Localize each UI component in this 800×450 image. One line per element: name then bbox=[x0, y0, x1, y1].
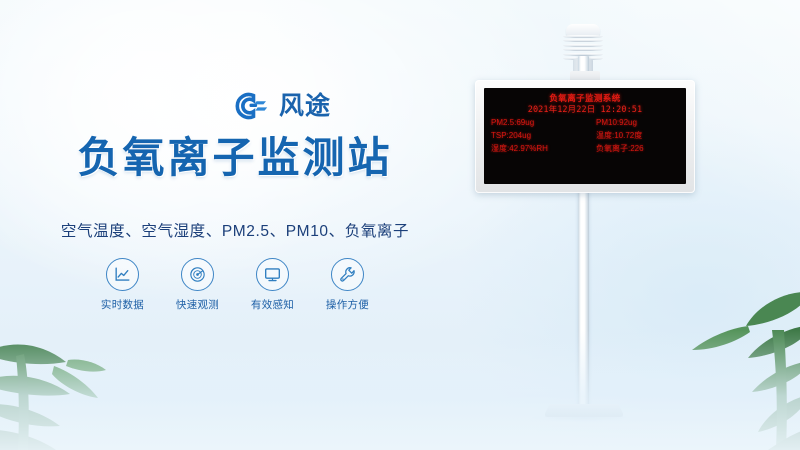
led-screen-title: 负氧离子监测系统 bbox=[491, 93, 679, 104]
reading-humidity: 湿度:42.97%RH bbox=[491, 143, 583, 155]
brand-name: 风途 bbox=[279, 94, 331, 119]
feature-item-easy-operation: 操作方便 bbox=[322, 258, 374, 312]
radar-scan-icon bbox=[181, 258, 214, 291]
feature-label: 实时数据 bbox=[97, 297, 149, 312]
led-screen: 负氧离子监测系统 2021年12月22日 12:20:51 PM2.5:69ug… bbox=[484, 88, 686, 184]
wrench-icon bbox=[331, 258, 364, 291]
page-title: 负氧离子监测站 bbox=[0, 134, 470, 181]
reading-tsp: TSP:204ug bbox=[491, 130, 583, 142]
reading-pm10: PM10:92ug bbox=[587, 117, 679, 129]
marketing-panel: 风途 负氧离子监测站 空气温度、空气湿度、PM2.5、PM10、负氧离子 实时数… bbox=[0, 0, 470, 450]
led-display-panel: 负氧离子监测系统 2021年12月22日 12:20:51 PM2.5:69ug… bbox=[475, 80, 695, 193]
feature-label: 操作方便 bbox=[322, 297, 374, 312]
monitor-screen-icon bbox=[256, 258, 289, 291]
feature-item-effective-sensing: 有效感知 bbox=[247, 258, 299, 312]
feature-list: 实时数据 快速观测 bbox=[0, 258, 470, 312]
led-screen-datetime: 2021年12月22日 12:20:51 bbox=[491, 104, 679, 116]
led-readings-grid: PM2.5:69ug PM10:92ug TSP:204ug 温度:10.72度… bbox=[491, 117, 679, 155]
line-chart-icon bbox=[106, 258, 139, 291]
feature-item-fast-observation: 快速观测 bbox=[172, 258, 224, 312]
feature-label: 有效感知 bbox=[247, 297, 299, 312]
monitoring-station: 负氧离子监测系统 2021年12月22日 12:20:51 PM2.5:69ug… bbox=[440, 0, 800, 450]
page-subtitle: 空气温度、空气湿度、PM2.5、PM10、负氧离子 bbox=[0, 219, 470, 241]
poster-canvas: 风途 负氧离子监测站 空气温度、空气湿度、PM2.5、PM10、负氧离子 实时数… bbox=[0, 0, 800, 450]
base-plate bbox=[545, 404, 623, 417]
feature-item-realtime-data: 实时数据 bbox=[97, 258, 149, 312]
feature-label: 快速观测 bbox=[172, 297, 224, 312]
fengtu-g-logo-icon bbox=[232, 86, 272, 126]
brand-lockup: 风途 bbox=[232, 86, 331, 126]
reading-pm25: PM2.5:69ug bbox=[491, 117, 583, 129]
reading-temperature: 温度:10.72度 bbox=[587, 130, 679, 142]
reading-negative-oxygen-ions: 负氧离子:226 bbox=[587, 143, 679, 155]
